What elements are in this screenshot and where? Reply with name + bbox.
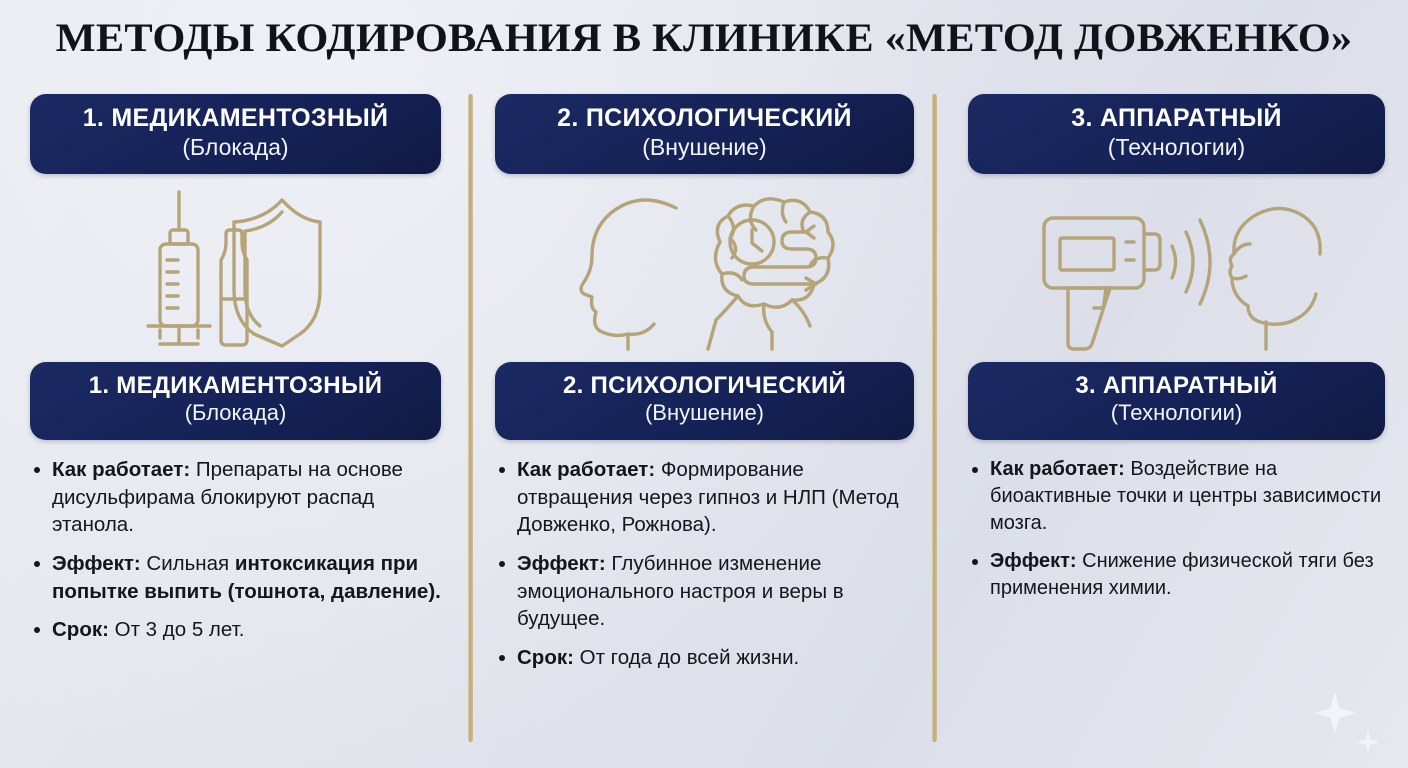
bullet-label: Срок: (52, 618, 109, 641)
page-title: МЕТОДЫ КОДИРОВАНИЯ В КЛИНИКЕ «МЕТОД ДОВЖ… (0, 14, 1408, 61)
infographic-poster: МЕТОДЫ КОДИРОВАНИЯ В КЛИНИКЕ «МЕТОД ДОВЖ… (0, 0, 1408, 768)
bullet-label: Эффект: (52, 552, 141, 575)
bullet-label: Как работает: (517, 458, 655, 481)
list-item: Срок: От года до всей жизни. (495, 644, 914, 672)
head-brain-clock-icon (570, 186, 840, 351)
column-1-icon-band (30, 174, 441, 362)
card-title-line2: (Технологии) (982, 134, 1371, 162)
bullet-label: Как работает: (52, 458, 190, 481)
bullet-label: Эффект: (990, 550, 1077, 572)
bullet-label: Эффект: (517, 552, 606, 575)
card-title-line2: (Внушение) (509, 134, 900, 162)
column-3-header-card-top: 3. АППАРАТНЫЙ (Технологии) (968, 94, 1385, 174)
card-title-line1: 3. АППАРАТНЫЙ (982, 372, 1371, 399)
columns-container: 1. МЕДИКАМЕНТОЗНЫЙ (Блокада) (0, 94, 1408, 768)
column-1-header-card-top: 1. МЕДИКАМЕНТОЗНЫЙ (Блокада) (30, 94, 441, 174)
card-title-line2: (Технологии) (982, 400, 1371, 426)
column-2-bullet-list: Как работает: Формирование отвращения че… (495, 456, 914, 672)
column-2-icon-band (495, 174, 914, 362)
column-3-icon-band (968, 174, 1385, 362)
column-apparatnyy: 3. АППАРАТНЫЙ (Технологии) (938, 94, 1407, 768)
card-title-line1: 2. ПСИХОЛОГИЧЕСКИЙ (509, 372, 900, 399)
card-title-line1: 1. МЕДИКАМЕНТОЗНЫЙ (44, 104, 427, 133)
column-medikamentoznyy: 1. МЕДИКАМЕНТОЗНЫЙ (Блокада) (0, 94, 469, 768)
bullet-label: Срок: (517, 646, 574, 669)
card-title-line1: 1. МЕДИКАМЕНТОЗНЫЙ (44, 372, 427, 399)
card-title-line2: (Внушение) (509, 400, 900, 426)
list-item: Эффект: Сильная интоксикация при попытке… (30, 550, 441, 605)
card-title-line2: (Блокада) (44, 400, 427, 426)
bullet-text: От года до всей жизни. (574, 646, 799, 669)
list-item: Как работает: Препараты на основе дисуль… (30, 456, 441, 539)
column-1-header-card-bottom: 1. МЕДИКАМЕНТОЗНЫЙ (Блокада) (30, 362, 441, 440)
bullet-text: От 3 до 5 лет. (109, 618, 244, 641)
column-2-header-card-bottom: 2. ПСИХОЛОГИЧЕСКИЙ (Внушение) (495, 362, 914, 440)
card-title-line2: (Блокада) (44, 134, 427, 162)
column-1-bullet-list: Как работает: Препараты на основе дисуль… (30, 456, 441, 644)
device-waves-head-icon (1032, 186, 1322, 351)
list-item: Эффект: Глубинное изменение эмоционально… (495, 550, 914, 633)
list-item: Эффект: Снижение физической тяги без при… (968, 548, 1385, 602)
column-3-bullet-list: Как работает: Воздействие на биоактивные… (968, 456, 1385, 602)
card-title-line1: 2. ПСИХОЛОГИЧЕСКИЙ (509, 104, 900, 133)
list-item: Срок: От 3 до 5 лет. (30, 616, 441, 644)
syringe-ampoule-shield-icon (126, 186, 346, 351)
list-item: Как работает: Формирование отвращения че… (495, 456, 914, 539)
bullet-label: Как работает: (990, 458, 1125, 480)
column-3-header-card-bottom: 3. АППАРАТНЫЙ (Технологии) (968, 362, 1385, 440)
bullet-text: Сильная (141, 552, 235, 575)
column-psihologicheskiy: 2. ПСИХОЛОГИЧЕСКИЙ (Внушение) (469, 94, 938, 768)
card-title-line1: 3. АППАРАТНЫЙ (982, 104, 1371, 133)
list-item: Как работает: Воздействие на биоактивные… (968, 456, 1385, 537)
column-2-header-card-top: 2. ПСИХОЛОГИЧЕСКИЙ (Внушение) (495, 94, 914, 174)
